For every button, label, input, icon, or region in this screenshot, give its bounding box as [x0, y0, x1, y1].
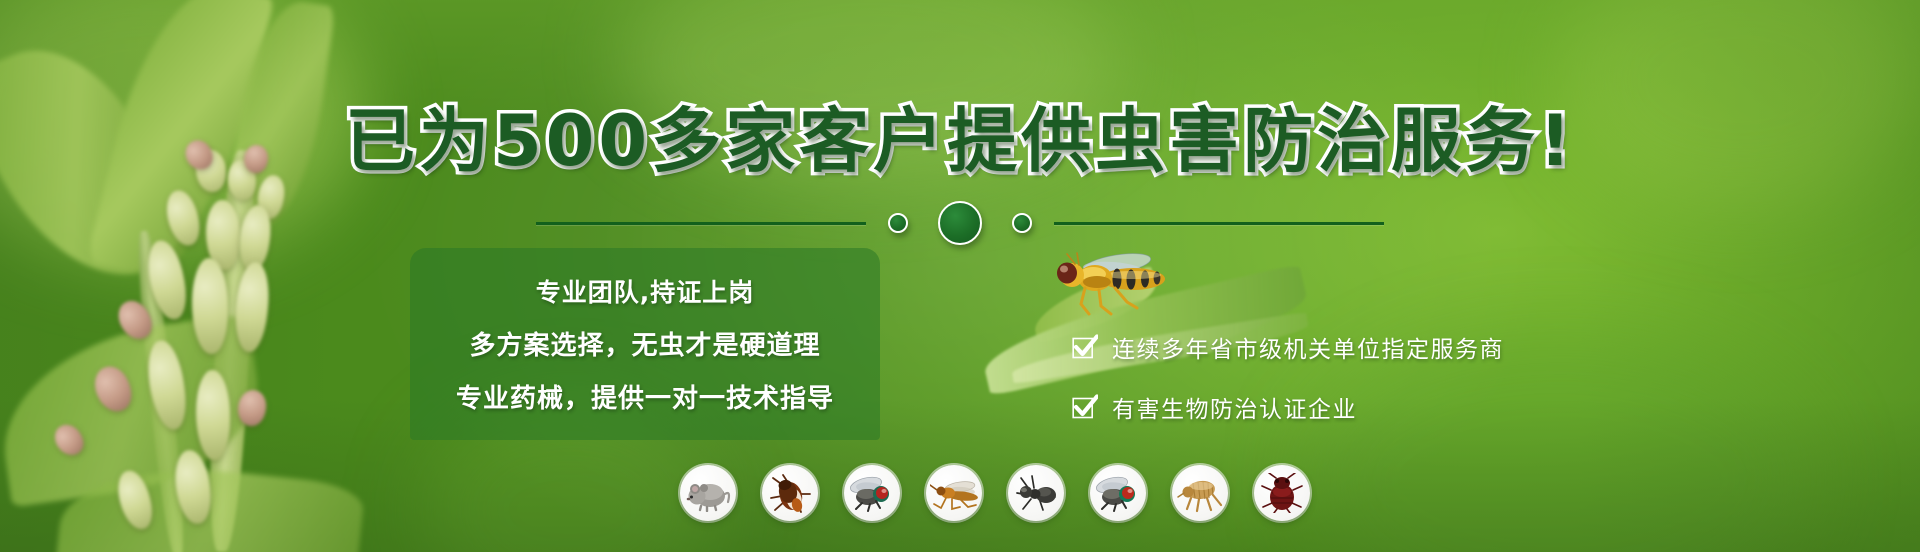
selling-point-3: 专业药械，提供一对一技术指导 — [456, 378, 834, 415]
credential-item: 连续多年省市级机关单位指定服务商 — [1072, 330, 1504, 364]
hoverfly-photo — [1045, 248, 1175, 318]
pest-control-banner: 已为500多家客户提供虫害防治服务! 专业团队,持证上岗 多方案选择，无虫才是硬… — [0, 0, 1920, 552]
selling-point-2: 多方案选择，无虫才是硬道理 — [469, 325, 820, 362]
selling-point-1: 专业团队,持证上岗 — [536, 273, 755, 309]
pest-icon-bedbug[interactable] — [1254, 465, 1310, 521]
page-title: 已为500多家客户提供虫害防治服务! — [0, 85, 1920, 186]
pest-icon-mouse[interactable] — [680, 465, 736, 521]
pest-icon-cockroach[interactable] — [762, 465, 818, 521]
selling-points-list: 专业团队,持证上岗 多方案选择，无虫才是硬道理 专业药械，提供一对一技术指导 — [410, 248, 880, 440]
pest-icon-row — [680, 465, 1310, 521]
separator-dot-small-right — [1012, 213, 1032, 233]
separator-dot-small-left — [888, 213, 908, 233]
pest-icon-housefly[interactable] — [844, 465, 900, 521]
pest-icon-mosquito[interactable] — [926, 465, 982, 521]
pest-icon-flea[interactable] — [1172, 465, 1228, 521]
checkbox-checked-icon — [1072, 394, 1098, 420]
credential-label: 连续多年省市级机关单位指定服务商 — [1112, 330, 1504, 364]
decorative-separator — [0, 198, 1920, 248]
separator-line-right — [1054, 222, 1384, 225]
pest-icon-ant[interactable] — [1008, 465, 1064, 521]
pest-icon-blowfly[interactable] — [1090, 465, 1146, 521]
checkbox-checked-icon — [1072, 334, 1098, 360]
separator-line-left — [536, 222, 866, 225]
separator-dot-large — [938, 201, 982, 245]
credential-item: 有害生物防治认证企业 — [1072, 390, 1504, 424]
credential-label: 有害生物防治认证企业 — [1112, 390, 1357, 424]
credentials-list: 连续多年省市级机关单位指定服务商 有害生物防治认证企业 — [1072, 330, 1504, 424]
plant-photo — [0, 0, 430, 552]
